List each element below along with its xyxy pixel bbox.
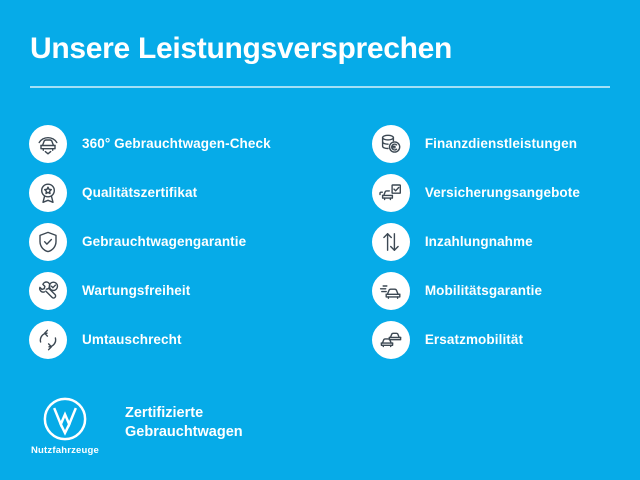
page-title: Unsere Leistungsversprechen	[30, 30, 610, 68]
benefits-right-column: Finanzdienstleistungen Versicherungsange…	[343, 119, 640, 364]
footer-claim-line1: Zertifizierte	[125, 404, 243, 423]
footer-claim-line2: Gebrauchtwagen	[125, 423, 243, 442]
benefit-label: Finanzdienstleistungen	[425, 136, 577, 151]
quality-seal-icon	[29, 174, 67, 212]
footer-logo-lockup: Nutzfahrzeuge Zertifizierte Gebrauchtwag…	[29, 396, 243, 456]
wrench-check-icon	[29, 272, 67, 310]
car-document-icon	[372, 174, 410, 212]
benefit-item-versicherungsangebote[interactable]: Versicherungsangebote	[372, 168, 640, 217]
vw-logo-block: Nutzfahrzeuge	[29, 396, 101, 456]
up-down-arrows-icon	[372, 223, 410, 261]
benefit-item-mobilitaetsgarantie[interactable]: Mobilitätsgarantie	[372, 266, 640, 315]
benefit-label: 360° Gebrauchtwagen-Check	[82, 136, 271, 151]
benefit-label: Versicherungsangebote	[425, 185, 580, 200]
benefit-item-gebrauchtwagengarantie[interactable]: Gebrauchtwagengarantie	[29, 217, 343, 266]
benefit-item-wartungsfreiheit[interactable]: Wartungsfreiheit	[29, 266, 343, 315]
benefit-label: Mobilitätsgarantie	[425, 283, 542, 298]
benefit-item-finanzdienstleistungen[interactable]: Finanzdienstleistungen	[372, 119, 640, 168]
benefit-item-inzahlungnahme[interactable]: Inzahlungnahme	[372, 217, 640, 266]
car-motion-icon	[372, 272, 410, 310]
vw-roundel-logo-icon	[42, 396, 88, 442]
benefit-label: Ersatzmobilität	[425, 332, 523, 347]
title-divider	[30, 86, 610, 88]
benefit-label: Gebrauchtwagengarantie	[82, 234, 246, 249]
benefits-section: 360° Gebrauchtwagen-Check Qualitätszerti…	[0, 119, 640, 364]
benefit-label: Inzahlungnahme	[425, 234, 533, 249]
coins-euro-icon	[372, 125, 410, 163]
benefit-item-qualitaetszertifikat[interactable]: Qualitätszertifikat	[29, 168, 343, 217]
exchange-arrows-icon	[29, 321, 67, 359]
car-check-icon	[29, 125, 67, 163]
benefit-label: Wartungsfreiheit	[82, 283, 190, 298]
header: Unsere Leistungsversprechen	[30, 30, 610, 88]
benefit-label: Qualitätszertifikat	[82, 185, 197, 200]
shield-check-icon	[29, 223, 67, 261]
promo-banner: Unsere Leistungsversprechen 360° Gebrauc…	[0, 0, 640, 480]
benefits-left-column: 360° Gebrauchtwagen-Check Qualitätszerti…	[0, 119, 343, 364]
vw-subbrand-label: Nutzfahrzeuge	[31, 445, 99, 456]
benefit-item-umtauschrecht[interactable]: Umtauschrecht	[29, 315, 343, 364]
two-cars-icon	[372, 321, 410, 359]
benefit-label: Umtauschrecht	[82, 332, 182, 347]
benefit-item-ersatzmobilitaet[interactable]: Ersatzmobilität	[372, 315, 640, 364]
footer-claim: Zertifizierte Gebrauchtwagen	[125, 404, 243, 442]
benefit-item-gebrauchtwagen-check[interactable]: 360° Gebrauchtwagen-Check	[29, 119, 343, 168]
